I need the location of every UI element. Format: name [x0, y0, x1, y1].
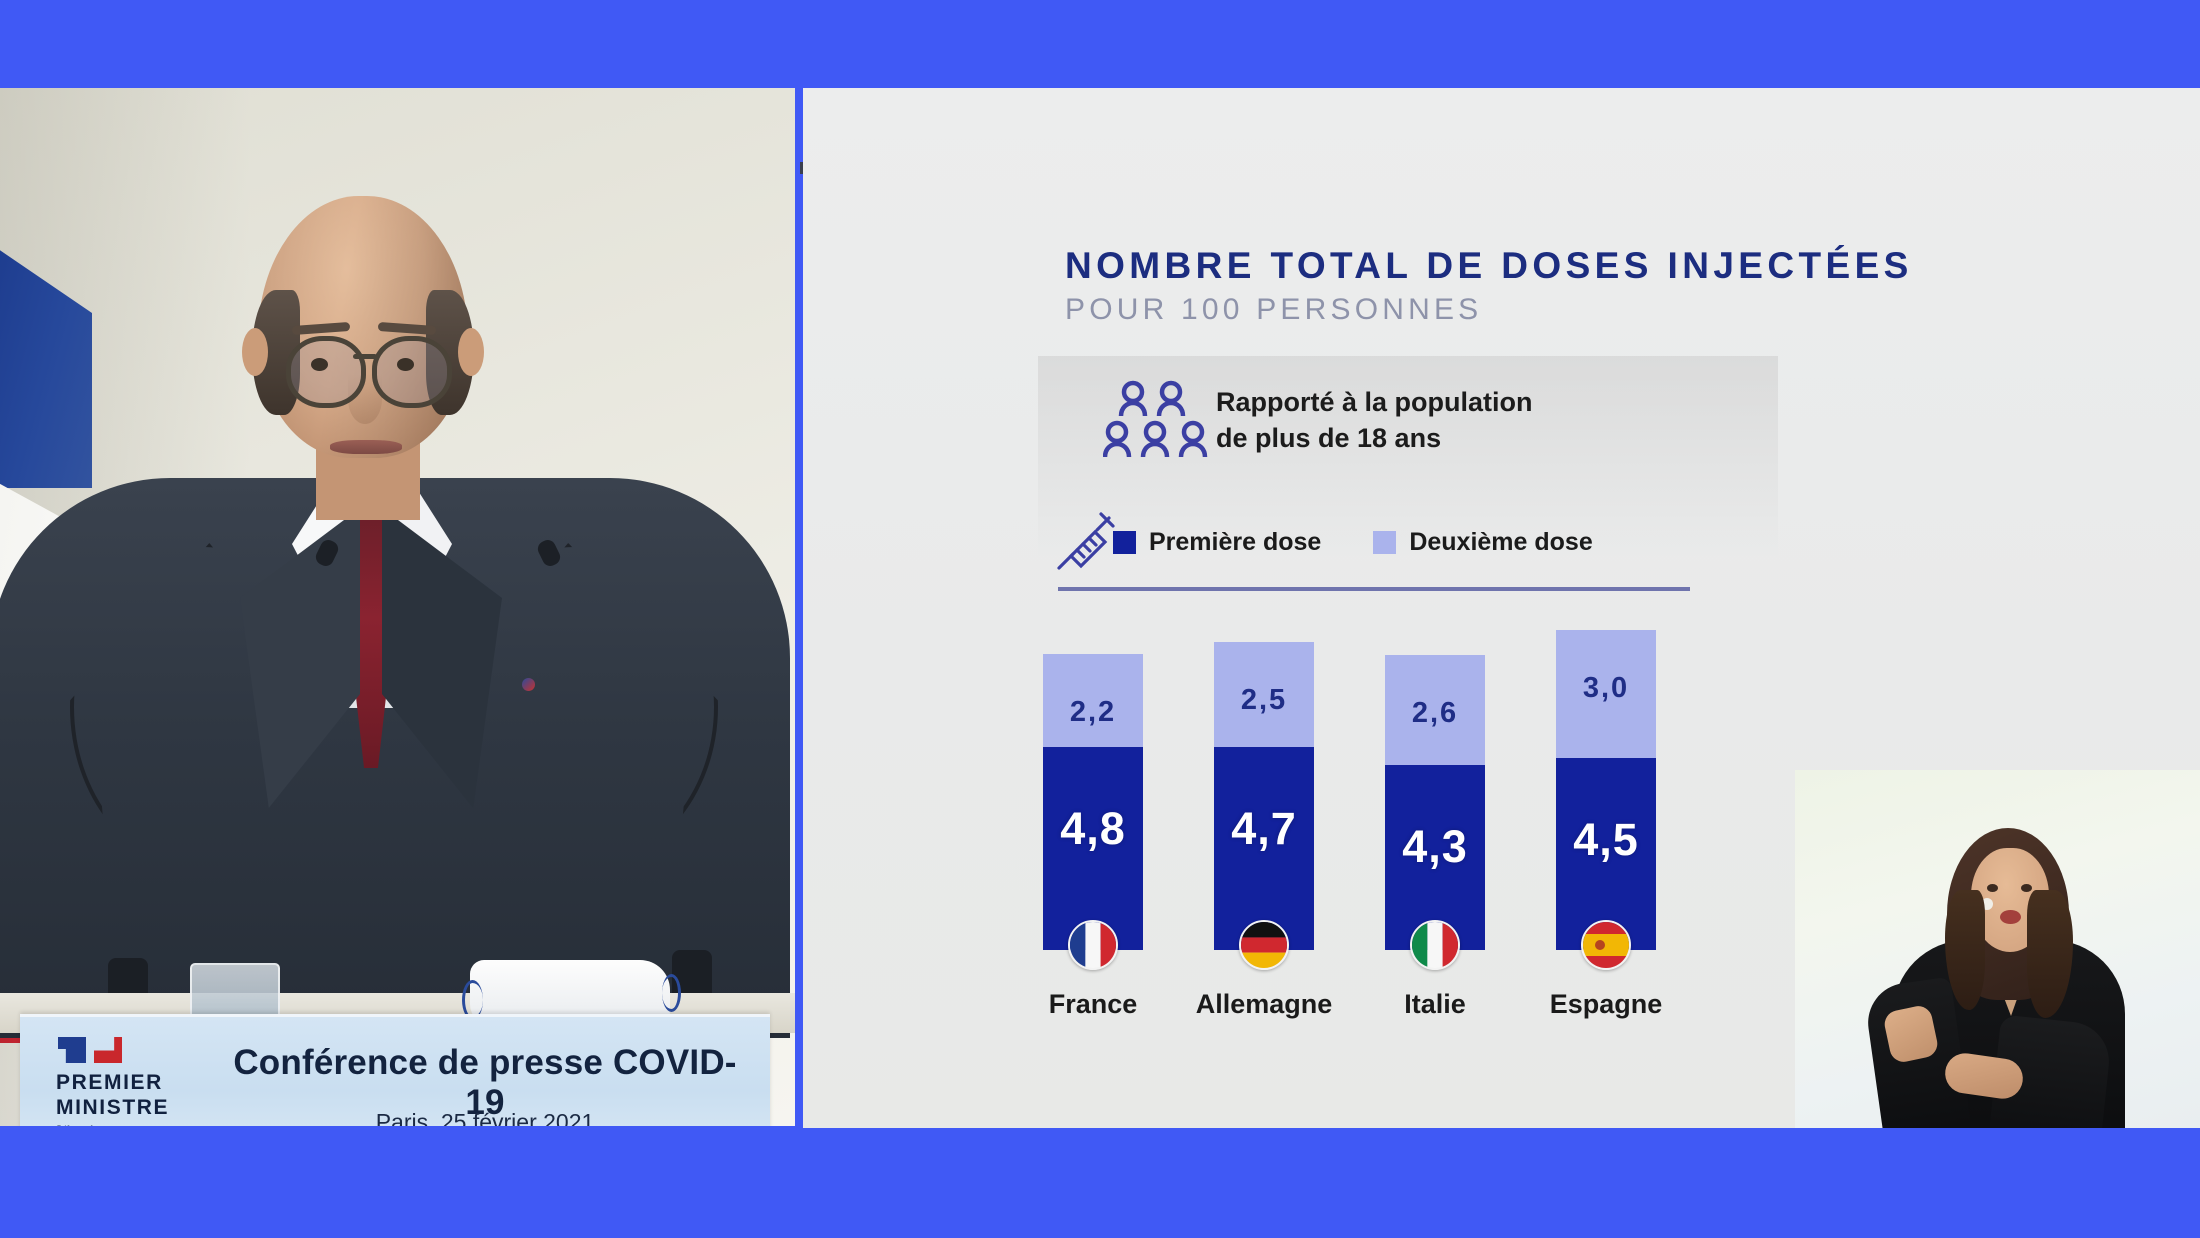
sign-language-interpreter-inset: [1795, 770, 2200, 1128]
bar-label-france: France: [1003, 989, 1183, 1020]
slide-subtitle: POUR 100 PERSONNES: [1065, 293, 1482, 327]
speaker-eye-right: [397, 358, 414, 371]
bar-label-espagne: Espagne: [1516, 989, 1696, 1020]
broadcast-frame: PREMIER MINISTRE Liberté Égalité Fratern…: [0, 0, 2200, 1238]
interpreter-eye-right: [2021, 884, 2032, 892]
republic-emblem-icon: [58, 1037, 128, 1063]
population-note: Rapporté à la population de plus de 18 a…: [1216, 384, 1533, 456]
podium-sign: PREMIER MINISTRE Liberté Égalité Fratern…: [20, 1014, 770, 1126]
bar-value-second-dose-allemagne: 2,5: [1214, 684, 1314, 717]
bar-column-italie: 2,6 4,3 Italie: [1385, 655, 1485, 950]
speaker-figure: [30, 178, 730, 978]
speaker-mouth: [330, 440, 402, 454]
bar-value-first-dose-italie: 4,3: [1385, 821, 1485, 873]
bar-column-france: 2,2 4,8 France: [1043, 654, 1143, 950]
legend-divider-rule: [1058, 587, 1690, 591]
emblem-blue-mark: [58, 1037, 86, 1063]
lapel-pin: [522, 678, 535, 691]
population-note-line2: de plus de 18 ans: [1216, 420, 1533, 456]
logo-text: PREMIER MINISTRE: [56, 1071, 169, 1121]
bar-value-second-dose-espagne: 3,0: [1556, 672, 1656, 705]
conference-location-date: Paris, 25 février 2021: [220, 1109, 750, 1126]
bar-value-first-dose-france: 4,8: [1043, 803, 1143, 855]
logo-line-premier: PREMIER: [56, 1071, 169, 1096]
speaker-ear-left: [242, 328, 268, 376]
bar-segment-first-dose-espagne: 4,5 Espagne: [1556, 758, 1656, 950]
bar-column-allemagne: 2,5 4,7 Allemagne: [1214, 642, 1314, 950]
video-panel: PREMIER MINISTRE Liberté Égalité Fratern…: [0, 88, 795, 1126]
germany-flag-icon: [1239, 920, 1289, 970]
bar-label-italie: Italie: [1345, 989, 1525, 1020]
bar-value-first-dose-espagne: 4,5: [1556, 814, 1656, 866]
bar-segment-second-dose-italie: 2,6: [1385, 655, 1485, 765]
france-flag-icon: [1068, 920, 1118, 970]
republic-motto: Liberté Égalité Fraternité: [56, 1123, 107, 1126]
bar-segment-first-dose-allemagne: 4,7 Allemagne: [1214, 747, 1314, 950]
eyeglasses-bridge: [353, 354, 377, 359]
emblem-red-mark: [94, 1037, 122, 1063]
motto-liberte: Liberté: [56, 1123, 107, 1126]
bar-label-allemagne: Allemagne: [1174, 989, 1354, 1020]
bar-segment-first-dose-italie: 4,3 Italie: [1385, 765, 1485, 950]
legend-label-premiere-dose: Première dose: [1149, 528, 1321, 557]
slide-title: NOMBRE TOTAL DE DOSES INJECTÉES: [1065, 245, 1913, 287]
stacked-bar-chart: 2,2 4,8 France 2,5: [1043, 610, 1723, 950]
legend-label-deuxieme-dose: Deuxième dose: [1409, 528, 1592, 557]
logo-line-ministre: MINISTRE: [56, 1096, 169, 1121]
bar-value-second-dose-italie: 2,6: [1385, 697, 1485, 730]
italy-flag-icon: [1410, 920, 1460, 970]
interpreter-mouth: [2000, 910, 2021, 924]
spain-flag-icon: [1581, 920, 1631, 970]
people-group-icon: [1103, 380, 1223, 470]
legend-swatch-premiere-dose: [1113, 531, 1136, 554]
legend-swatch-deuxieme-dose: [1373, 531, 1396, 554]
premier-ministre-logo: PREMIER MINISTRE Liberté Égalité Fratern…: [56, 1037, 206, 1126]
syringe-icon: [1051, 506, 1121, 576]
bar-segment-second-dose-espagne: 3,0: [1556, 630, 1656, 758]
eyeglasses-lens-right: [372, 336, 452, 408]
eyeglasses-lens-left: [286, 336, 366, 408]
bar-segment-first-dose-france: 4,8 France: [1043, 747, 1143, 950]
population-note-line1: Rapporté à la population: [1216, 384, 1533, 420]
bar-segment-second-dose-france: 2,2: [1043, 654, 1143, 747]
panel-divider: [795, 88, 803, 1128]
bar-column-espagne: 3,0 4,5 Espagne: [1556, 630, 1656, 950]
bar-value-first-dose-allemagne: 4,7: [1214, 803, 1314, 855]
speaker-eye-left: [311, 358, 328, 371]
bar-segment-second-dose-allemagne: 2,5: [1214, 642, 1314, 747]
face-mask-strap-right: [662, 974, 681, 1012]
chart-legend: Première dose Deuxième dose: [1113, 528, 1593, 557]
speaker-ear-right: [458, 328, 484, 376]
bar-value-second-dose-france: 2,2: [1043, 696, 1143, 729]
interpreter-eye-left: [1987, 884, 1998, 892]
